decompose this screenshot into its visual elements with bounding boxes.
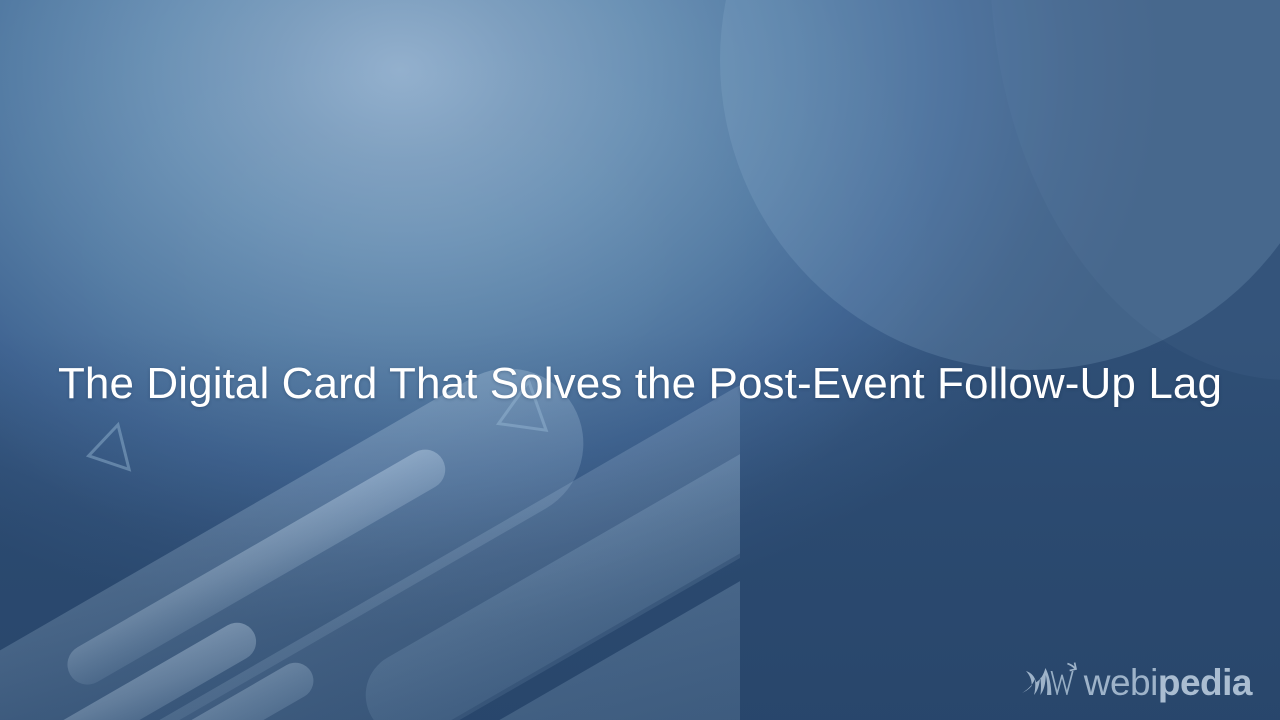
page-title: The Digital Card That Solves the Post-Ev… — [0, 360, 1280, 408]
logo-wordmark: webipedia — [1084, 664, 1252, 701]
brand-logo[interactable]: webipedia — [1021, 660, 1252, 704]
title-slide: The Digital Card That Solves the Post-Ev… — [0, 0, 1280, 720]
logo-word-light: webi — [1084, 662, 1158, 703]
logo-mark-icon — [1021, 660, 1077, 704]
logo-word-bold: pedia — [1158, 662, 1252, 703]
